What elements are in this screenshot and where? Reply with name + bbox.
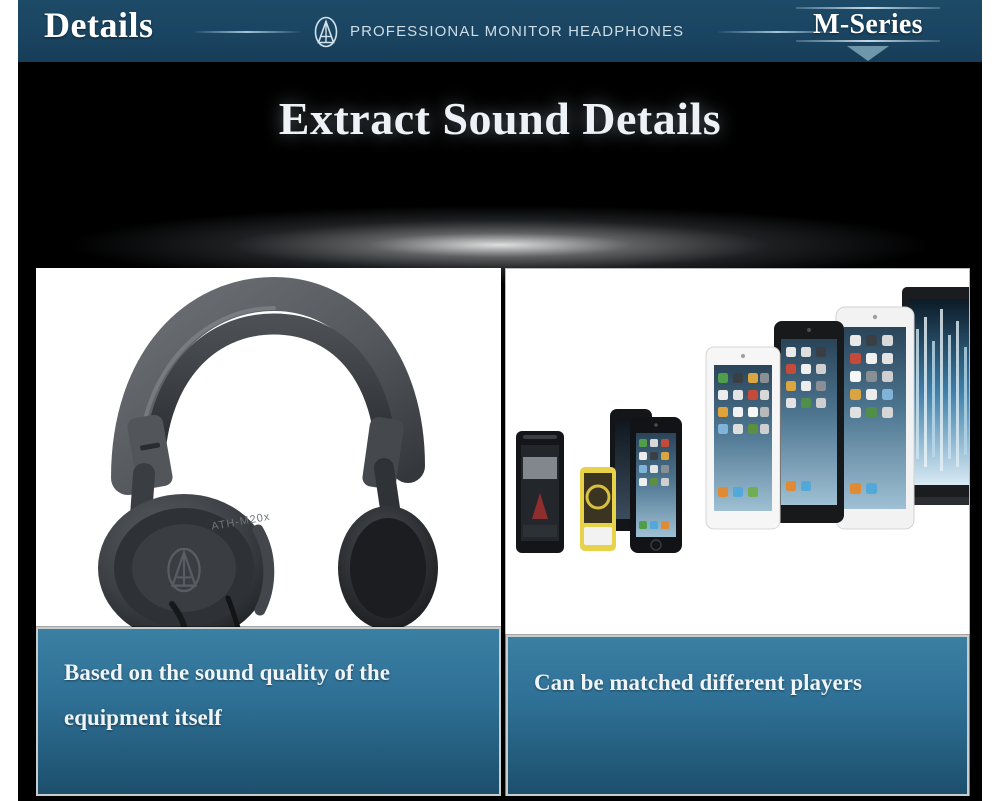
device-lineup-image: [506, 269, 969, 644]
section-heading: Extract Sound Details: [18, 92, 982, 145]
series-badge-rule-bottom: [796, 40, 940, 42]
triangle-down-icon: [847, 46, 889, 61]
header-rule-left: [194, 31, 300, 33]
page-header: Details PROFESSIONAL MONITOR HEADPHONES …: [18, 0, 982, 62]
feature-caption-text: Based on the sound quality of the equipm…: [64, 651, 473, 741]
feature-caption-sound-quality: Based on the sound quality of the equipm…: [36, 627, 501, 796]
feature-caption-text: Can be matched different players: [534, 661, 941, 706]
audio-technica-logo-icon: [310, 16, 342, 48]
product-detail-page: Details PROFESSIONAL MONITOR HEADPHONES …: [0, 0, 1000, 801]
headphones-product-image: ATH-M20x: [36, 268, 501, 643]
series-badge: M-Series: [796, 7, 940, 61]
feature-panel-device-compatibility: Can be matched different players: [505, 268, 970, 796]
page-title: Details: [44, 6, 153, 46]
brand-tagline: PROFESSIONAL MONITOR HEADPHONES: [350, 23, 684, 40]
feature-panel-sound-quality: ATH-M20x Based on the sound quality of t…: [36, 268, 501, 796]
series-badge-label: M-Series: [796, 9, 940, 40]
feature-caption-device-compatibility: Can be matched different players: [506, 635, 969, 796]
content-stage: Extract Sound Details: [18, 62, 982, 801]
